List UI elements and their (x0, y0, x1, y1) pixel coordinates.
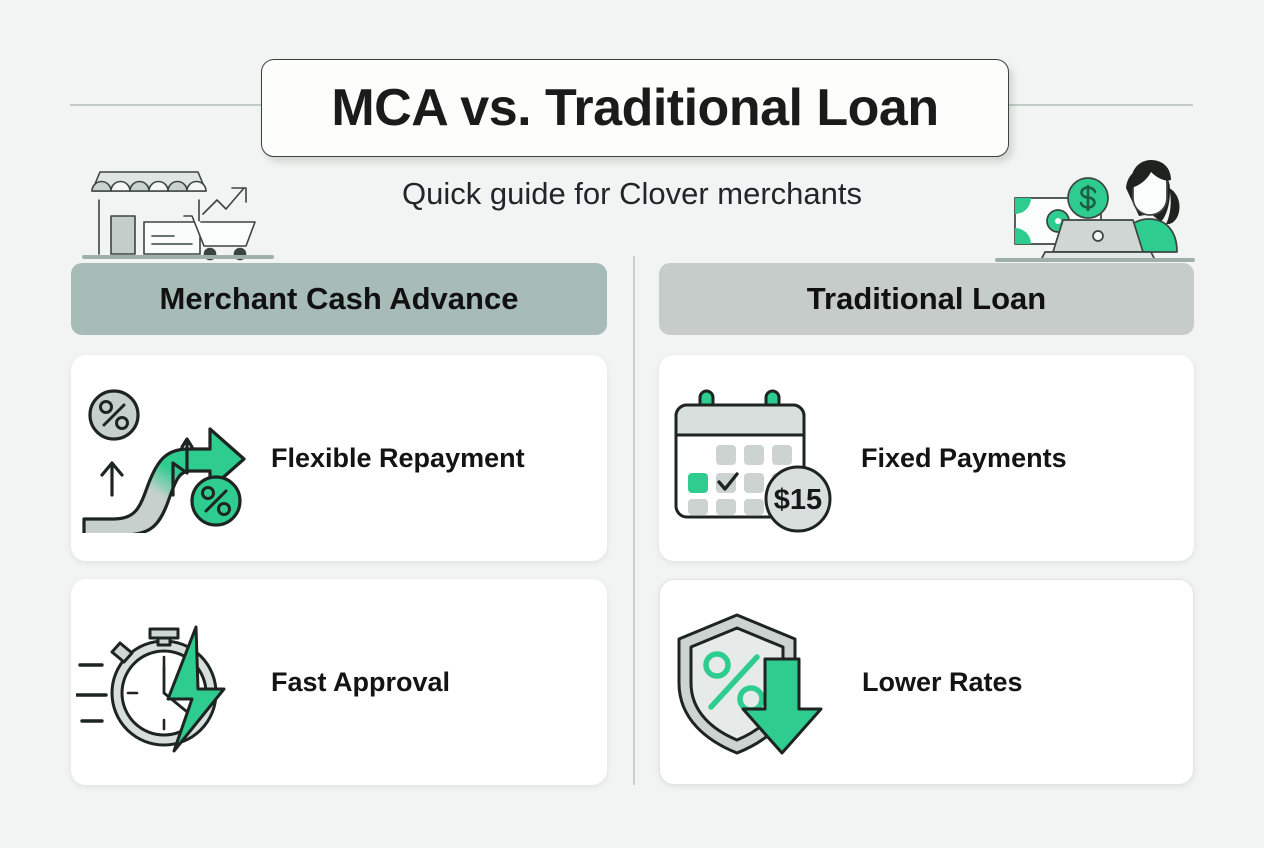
infographic-canvas: MCA vs. Traditional Loan Quick guide for… (0, 0, 1264, 848)
column-divider (633, 256, 635, 785)
storefront-cart-growth-illustration (80, 158, 276, 268)
title-card: MCA vs. Traditional Loan (261, 59, 1009, 157)
fixed-payment-amount: $15 (774, 484, 822, 516)
card-fixed-payments-label: Fixed Payments (861, 443, 1067, 474)
flexible-arrow-percent-icon (71, 378, 261, 538)
calendar-fixed-payment-icon: $15 (659, 378, 849, 538)
column-header-mca-label: Merchant Cash Advance (160, 281, 519, 317)
card-lower-rates-label: Lower Rates (862, 667, 1023, 698)
stopwatch-lightning-icon (71, 602, 261, 762)
card-fixed-payments[interactable]: $15 Fixed Payments (659, 355, 1194, 561)
column-header-traditional-label: Traditional Loan (807, 281, 1046, 317)
card-fast-approval-label: Fast Approval (271, 667, 450, 698)
card-flexible-repayment-label: Flexible Repayment (271, 443, 525, 474)
card-flexible-repayment[interactable]: Flexible Repayment (71, 355, 607, 561)
card-fast-approval[interactable]: Fast Approval (71, 579, 607, 785)
woman-laptop-money-illustration (993, 150, 1197, 268)
shield-percent-down-arrow-icon (660, 602, 850, 762)
column-header-traditional: Traditional Loan (659, 263, 1194, 335)
page-title: MCA vs. Traditional Loan (331, 78, 938, 138)
column-header-mca: Merchant Cash Advance (71, 263, 607, 335)
card-lower-rates[interactable]: Lower Rates (659, 579, 1194, 785)
